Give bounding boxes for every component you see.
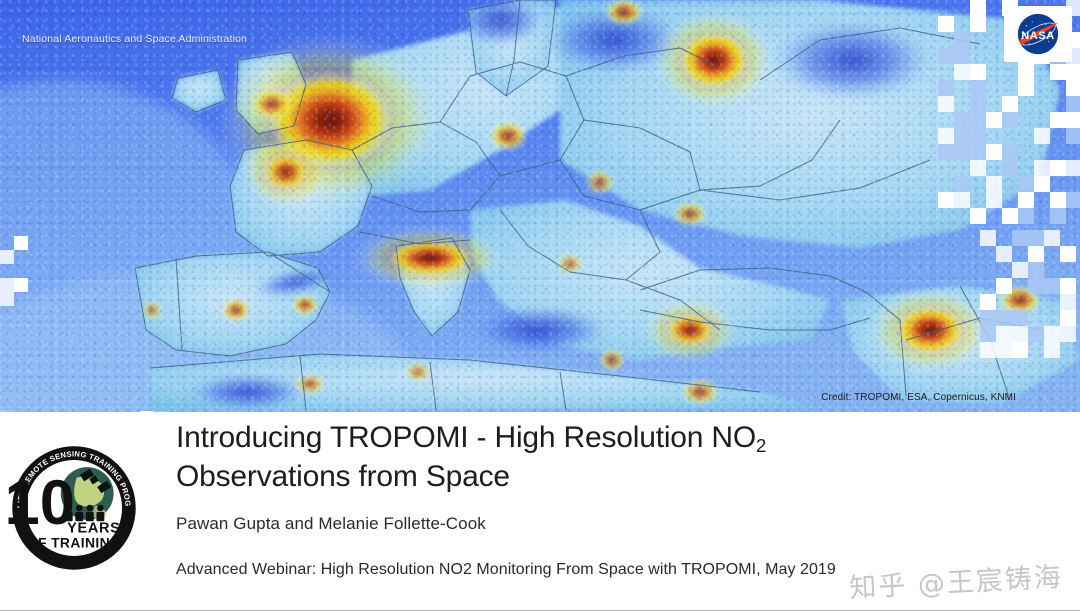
- title-subscript-2: 2: [756, 435, 766, 456]
- page-title: Introducing TROPOMI - High Resolution NO…: [176, 418, 1056, 496]
- nasa-meatball-icon: NASA: [1010, 10, 1066, 58]
- image-credit: Credit: TROPOMI, ESA, Copernicus, KNMI: [821, 392, 1016, 403]
- presentation-slide: National Aeronautics and Space Administr…: [0, 0, 1080, 611]
- slide-text-block: Introducing TROPOMI - High Resolution NO…: [176, 418, 1056, 579]
- nasa-logo: NASA: [1004, 6, 1072, 62]
- svg-text:NASA: NASA: [1021, 30, 1055, 42]
- webinar-subtitle: Advanced Webinar: High Resolution NO2 Mo…: [176, 561, 1056, 579]
- arset-of-training-text: OF TRAINING: [27, 535, 121, 551]
- tropomi-no2-map: National Aeronautics and Space Administr…: [0, 0, 1080, 412]
- title-line-1: Introducing TROPOMI - High Resolution NO: [176, 421, 756, 454]
- authors-line: Pawan Gupta and Melanie Follette-Cook: [176, 514, 1056, 534]
- arset-big-number: 10: [8, 468, 75, 538]
- title-line-2: Observations from Space: [176, 460, 510, 493]
- no2-map-raster: [0, 0, 1080, 412]
- arset-10-years-logo: APPLIED REMOTE SENSING TRAINING PROGRAM …: [8, 442, 140, 574]
- agency-name-text: National Aeronautics and Space Administr…: [22, 33, 247, 45]
- title-panel: APPLIED REMOTE SENSING TRAINING PROGRAM …: [0, 412, 1080, 611]
